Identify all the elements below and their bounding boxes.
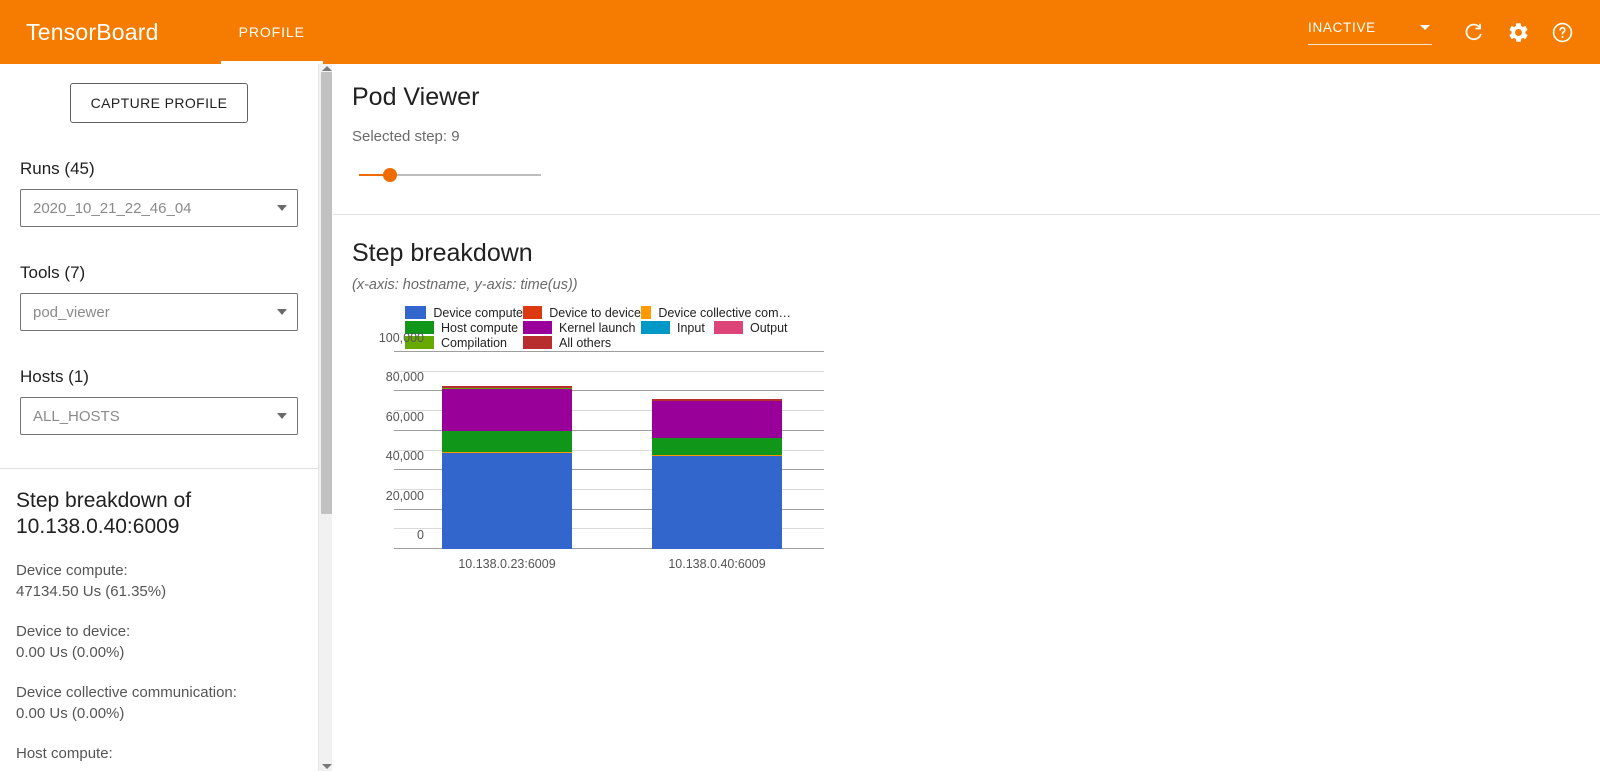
legend-swatch-icon [714,321,743,334]
tab-profile-label: PROFILE [239,24,305,40]
bar-segment[interactable] [442,389,572,431]
gridline [394,351,824,352]
bar-segment[interactable] [442,431,572,451]
detail-value: 0.00 Us (0.00%) [16,644,302,661]
legend-label: Output [750,321,788,335]
legend-item[interactable]: Device compute [405,305,523,320]
runs-select[interactable]: 2020_10_21_22_46_04 [20,189,298,227]
capture-profile-button[interactable]: CAPTURE PROFILE [70,83,249,123]
legend-swatch-icon [641,306,651,319]
legend-swatch-icon [523,321,552,334]
app-bar-actions: INACTIVE [1308,12,1582,52]
x-axis-tick-label: 10.138.0.40:6009 [627,557,807,571]
detail-value: 0.00 Us (0.00%) [16,705,302,722]
legend-item[interactable]: All others [523,335,641,350]
legend-label: Device to device [549,306,641,320]
hosts-select[interactable]: ALL_HOSTS [20,397,298,435]
detail-entry: Device to device: 0.00 Us (0.00%) [16,623,302,661]
selected-step-label: Selected step: 9 [352,128,1600,145]
legend-label: Compilation [441,336,507,350]
refresh-button[interactable] [1454,12,1494,52]
page-title: Pod Viewer [352,83,1600,112]
chart-subtitle: (x-axis: hostname, y-axis: time(us)) [352,277,1600,293]
step-slider[interactable] [359,164,541,186]
bar-stack[interactable] [442,386,572,549]
scroll-up-arrow-icon[interactable] [322,66,332,71]
chart-legend: Device computeDevice to deviceDevice col… [405,305,837,350]
y-axis-tick-label: 0 [334,528,424,542]
legend-item[interactable]: Output [714,320,814,335]
y-axis-tick-label: 100,000 [334,331,424,345]
tools-select-value: pod_viewer [33,304,110,321]
app-brand: TensorBoard [26,19,159,46]
y-axis-tick-label: 60,000 [334,410,424,424]
help-button[interactable] [1542,12,1582,52]
y-axis-tick-label: 20,000 [334,489,424,503]
main-divider [333,214,1600,215]
x-axis-tick-label: 10.138.0.23:6009 [417,557,597,571]
chevron-down-icon [277,413,287,419]
help-icon [1551,21,1574,44]
hosts-select-value: ALL_HOSTS [33,408,120,425]
bar-segment[interactable] [652,401,782,437]
legend-label: Host compute [441,321,518,335]
chart-title: Step breakdown [352,239,1600,268]
hosts-label: Hosts (1) [20,367,298,387]
legend-item[interactable]: Input [641,320,714,335]
runs-label: Runs (45) [20,159,298,179]
step-slider-thumb[interactable] [383,168,397,182]
bar-segment[interactable] [652,438,782,456]
sidebar-scrollbar[interactable] [318,64,332,771]
detail-key: Device to device: [16,623,302,640]
legend-label: All others [559,336,611,350]
sidebar-scrollbar-thumb[interactable] [321,72,332,514]
detail-key: Device collective communication: [16,684,302,701]
detail-value: 47134.50 Us (61.35%) [16,583,302,600]
chart-plot-area: 020,00040,00060,00080,000100,00010.138.0… [352,352,852,597]
chevron-down-icon [1420,25,1430,30]
status-dropdown-value: INACTIVE [1308,20,1376,35]
detail-entry: Device compute: 47134.50 Us (61.35%) [16,562,302,600]
app-bar: TensorBoard PROFILE INACTIVE [0,0,1600,64]
tools-label: Tools (7) [20,263,298,283]
detail-entry: Device collective communication: 0.00 Us… [16,684,302,722]
legend-item[interactable]: Kernel launch [523,320,641,335]
detail-key: Host compute: [16,745,302,762]
legend-swatch-icon [523,306,542,319]
main-panel: Pod Viewer Selected step: 9 Step breakdo… [333,64,1600,771]
sidebar: CAPTURE PROFILE Runs (45) 2020_10_21_22_… [0,64,318,771]
chevron-down-icon [277,205,287,211]
y-axis-tick-label: 40,000 [334,449,424,463]
legend-label: Device compute [433,306,523,320]
y-axis-tick-label: 80,000 [334,370,424,384]
legend-item[interactable]: Device to device [523,305,641,320]
tools-field: Tools (7) pod_viewer [20,263,298,331]
hosts-field: Hosts (1) ALL_HOSTS [20,367,298,435]
bar-stack[interactable] [652,399,782,549]
legend-swatch-icon [405,306,426,319]
bar-segment[interactable] [652,456,782,549]
capture-profile-row: CAPTURE PROFILE [0,83,318,123]
legend-label: Input [677,321,705,335]
status-dropdown[interactable]: INACTIVE [1308,19,1432,45]
legend-label: Kernel launch [559,321,635,335]
scroll-down-arrow-icon[interactable] [322,764,332,769]
settings-button[interactable] [1498,12,1538,52]
legend-swatch-icon [641,321,670,334]
detail-heading: Step breakdown of 10.138.0.40:6009 [16,488,302,539]
runs-select-value: 2020_10_21_22_46_04 [33,200,192,217]
tab-profile[interactable]: PROFILE [221,0,323,64]
legend-swatch-icon [523,336,552,349]
step-breakdown-chart: Device computeDevice to deviceDevice col… [352,305,852,605]
detail-entry: Host compute: [16,745,302,762]
legend-item[interactable]: Device collective com… [641,305,791,320]
chevron-down-icon [277,309,287,315]
gridline [394,371,824,372]
tools-select[interactable]: pod_viewer [20,293,298,331]
bar-segment[interactable] [442,453,572,549]
runs-field: Runs (45) 2020_10_21_22_46_04 [20,159,298,227]
legend-label: Device collective com… [658,306,791,320]
refresh-icon [1463,21,1485,43]
tab-bar: PROFILE [221,0,323,64]
detail-key: Device compute: [16,562,302,579]
gear-icon [1507,21,1530,44]
step-breakdown-detail: Step breakdown of 10.138.0.40:6009 Devic… [0,469,318,762]
